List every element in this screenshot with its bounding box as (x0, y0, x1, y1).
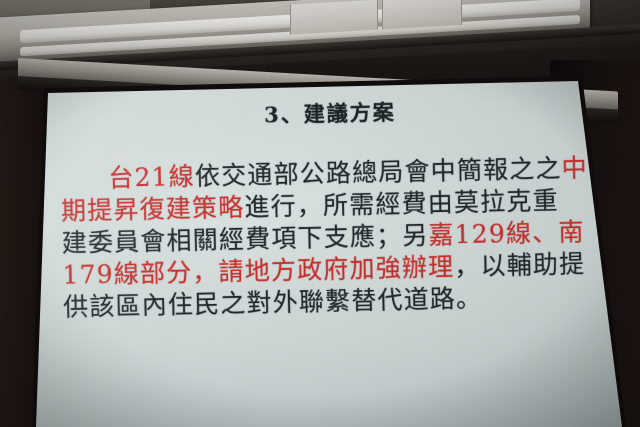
projection-screen: 3、建議方案 台21線依交通部公路總局會中簡報之之中期提昇復建策略進行，所需經費… (26, 76, 626, 427)
light-fixture-endcap-right (382, 0, 462, 29)
highlighted-text-run: 中 (561, 153, 588, 183)
highlighted-text-run: 期提昇復建策略 (61, 193, 245, 226)
body-text-run: ，以輔助提 (454, 249, 586, 281)
body-text-run: 進行，所需經費由莫拉克重 (244, 186, 559, 222)
light-fixture-endcap-left (290, 0, 378, 35)
slide-body: 台21線依交通部公路總局會中簡報之之中期提昇復建策略進行，所需經費由莫拉克重建委… (60, 152, 603, 324)
photograph-of-projected-slide: 3、建議方案 台21線依交通部公路總局會中簡報之之中期提昇復建策略進行，所需經費… (0, 0, 640, 427)
slide-content: 3、建議方案 台21線依交通部公路總局會中簡報之之中期提昇復建策略進行，所需經費… (26, 76, 626, 427)
highlighted-text-run: 嘉129線、南 (428, 217, 585, 249)
slide-title: 3、建議方案 (26, 91, 623, 134)
highlighted-text-run: 台21線 (108, 162, 195, 193)
